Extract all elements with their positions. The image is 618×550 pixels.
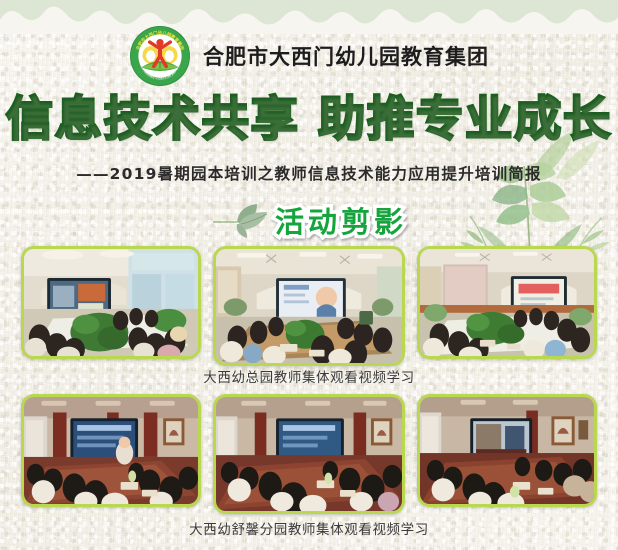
photo-image [216, 397, 402, 511]
kindergarten-emblem-icon: 合肥市大西门幼儿园教育集团 HEFEISHI DAXIMEN YOUERYUAN… [129, 25, 191, 87]
section-label-row: 活动剪影 [0, 196, 618, 244]
photo-image [420, 249, 594, 356]
poster-header: 合肥市大西门幼儿园教育集团 HEFEISHI DAXIMEN YOUERYUAN… [0, 22, 618, 90]
photo-image [24, 249, 198, 356]
page-title: 信息技术共享 助推专业成长 [0, 92, 618, 148]
photo-image [420, 397, 594, 504]
page-subtitle: ——2019暑期园本培训之教师信息技术能力应用提升培训简报 [0, 162, 618, 184]
photo-image [216, 249, 402, 363]
leaf-sprig-icon [211, 200, 277, 240]
photo-row-caption: 大西幼舒馨分园教师集体观看视频学习 [0, 518, 618, 538]
photo-row-1 [0, 246, 618, 366]
poster-canvas: 合肥市大西门幼儿园教育集团 HEFEISHI DAXIMEN YOUERYUAN… [0, 0, 618, 550]
section-title: 活动剪影 [275, 199, 407, 241]
gallery-photo[interactable] [21, 394, 201, 507]
photo-row-caption: 大西幼总园教师集体观看视频学习 [0, 366, 618, 386]
photo-image [24, 397, 198, 504]
gallery-photo[interactable] [213, 394, 405, 514]
gallery-photo[interactable] [417, 246, 597, 359]
organization-name: 合肥市大西门幼儿园教育集团 [203, 41, 489, 71]
gallery-photo[interactable] [417, 394, 597, 507]
gallery-photo[interactable] [21, 246, 201, 359]
photo-row-2 [0, 394, 618, 514]
gallery-photo[interactable] [213, 246, 405, 366]
